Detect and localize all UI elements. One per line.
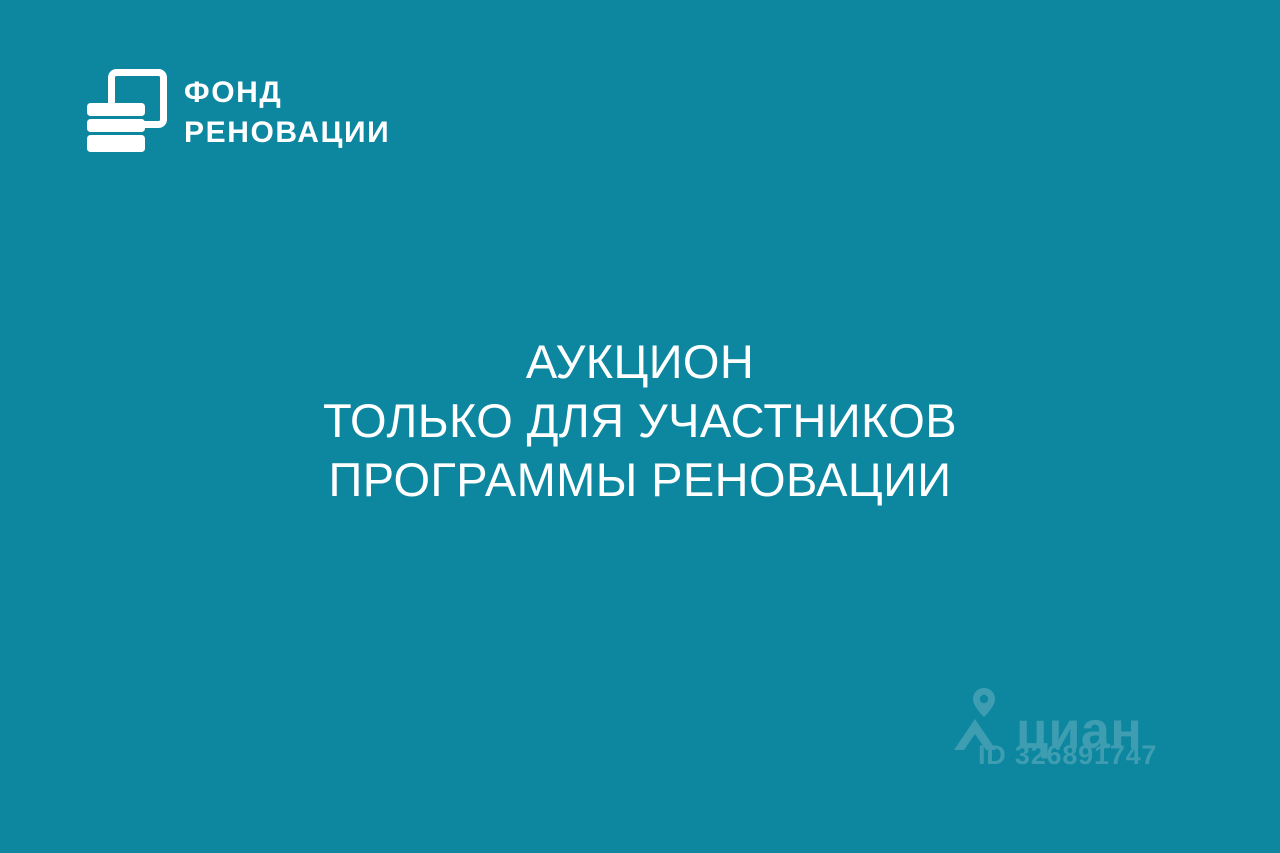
headline-line-2: ТОЛЬКО ДЛЯ УЧАСТНИКОВ [0,391,1280,450]
cian-brand-text: циан [1016,706,1142,756]
headline-line-3: ПРОГРАММЫ РЕНОВАЦИИ [0,450,1280,509]
auction-banner: ФОНД РЕНОВАЦИИ АУКЦИОН ТОЛЬКО ДЛЯ УЧАСТН… [0,0,1280,853]
headline-line-1: АУКЦИОН [0,332,1280,391]
brand-wordmark-line-1: ФОНД [184,73,390,113]
brand-wordmark-line-2: РЕНОВАЦИИ [184,113,390,153]
cian-listing-id: ID 326891747 [978,740,1157,770]
stacked-documents-icon [84,68,168,158]
cian-watermark: циан ID 326891747 [952,684,1184,788]
cian-pin-chevron-icon [952,686,1010,752]
brand-wordmark: ФОНД РЕНОВАЦИИ [184,73,390,153]
headline: АУКЦИОН ТОЛЬКО ДЛЯ УЧАСТНИКОВ ПРОГРАММЫ … [0,332,1280,509]
brand-logo-block: ФОНД РЕНОВАЦИИ [84,68,390,158]
cian-logo: циан [952,684,1142,752]
